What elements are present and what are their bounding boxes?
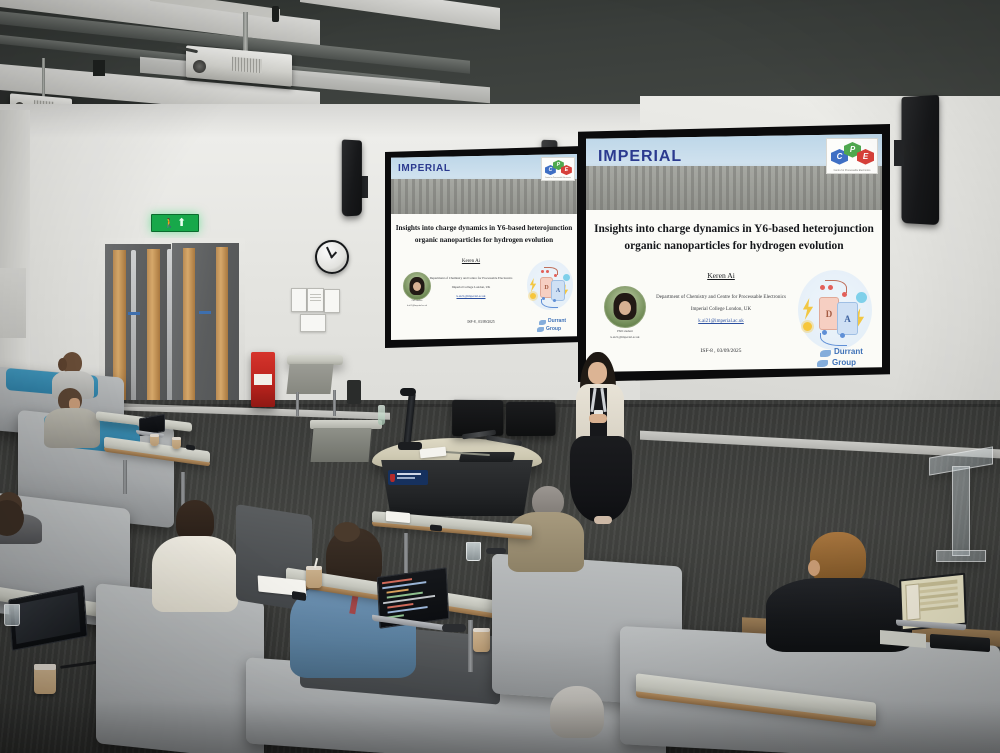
hex-e: E [857, 149, 874, 165]
attendee-bun [334, 522, 360, 542]
headshot-face [413, 282, 421, 291]
wall-notice-2 [307, 288, 324, 312]
cup-lid [34, 664, 56, 670]
wall-notice-3 [324, 289, 340, 313]
durrant-logo-mark [820, 350, 831, 357]
centre-logo: C P E Centre for Processable Electronics [826, 138, 878, 174]
badge-text-line [397, 473, 421, 475]
attendee-torso [44, 408, 100, 448]
centre-logo: C P E Centre for Processable Electronics [541, 157, 575, 181]
door-sticker-left [128, 312, 140, 315]
water-bottle [378, 405, 385, 425]
slide-title-line2: organic nanoparticles for hydrogen evolu… [395, 236, 573, 245]
cup-lid [473, 628, 490, 632]
ceiling-vent [93, 60, 105, 76]
headshot-caption-2: k.ai21@imperial.ac.uk [586, 335, 664, 339]
wall-left-return [0, 110, 30, 410]
desk-leg [123, 460, 127, 494]
clock-hand-minute [325, 247, 331, 259]
arrow-up-icon: ⬆ [177, 218, 186, 229]
microphone-base [398, 442, 422, 450]
emergency-exit-sign: 🚶 ⬆ [151, 214, 199, 232]
slide-right: IMPERIAL C P E Centre for Processable El… [586, 134, 882, 372]
hex-e-label: E [857, 149, 874, 165]
transfer-arrow [825, 280, 847, 293]
slide-author: Keren Ai [421, 259, 521, 264]
durrant-logo-line2: Group [546, 327, 561, 332]
podium-side-shelf-apron [311, 428, 372, 462]
badge-text-line [397, 477, 415, 479]
door-handle-right[interactable] [167, 249, 172, 407]
hex-e: E [561, 165, 572, 175]
skyline-photo [391, 179, 577, 214]
acceptor-block: A [837, 302, 858, 335]
sun-icon [803, 322, 812, 331]
projector-pole-centre [243, 12, 248, 54]
headshot-caption-2: k.ai21@imperial.ac.uk [391, 305, 443, 307]
podium-crest-badge [388, 470, 428, 485]
headshot-caption-1: PhD student [393, 300, 441, 302]
wall-clock [315, 240, 349, 274]
door-panel-wood-3 [183, 248, 195, 408]
slide-title-line1: Insights into charge dynamics in Y6-base… [592, 222, 876, 236]
door-panel-wood-4 [216, 247, 228, 407]
coffee-cup [34, 664, 56, 694]
headshot-caption-1: PhD student [590, 329, 660, 333]
slide-affiliation-2: Imperial College London, UK [626, 306, 816, 313]
coffee-cup [306, 566, 322, 588]
wall-speaker-right [902, 95, 940, 225]
attendee-torso [152, 536, 238, 612]
durrant-logo-line2: Group [832, 359, 856, 367]
cup-lid [172, 437, 181, 440]
spreadsheet-sidebar [905, 583, 920, 620]
attendee-hair [810, 532, 866, 584]
lecture-theatre-photo: 🚶 ⬆ IMPERIAL C P [0, 0, 1000, 753]
presenter-hands [589, 414, 607, 423]
notice-text-line [310, 297, 321, 298]
door-panel-wood-2 [147, 249, 160, 409]
crest-shield-icon [390, 474, 395, 482]
hex-e-label: E [561, 165, 572, 175]
lightning-bolt-icon-left [528, 278, 538, 292]
podium-monitor-right[interactable] [506, 402, 556, 436]
wall-notice-4 [300, 314, 326, 332]
proton-dot [563, 274, 570, 281]
lightning-bolt-icon-left [800, 298, 816, 320]
sun-icon [530, 293, 536, 299]
papers-on-desk [386, 511, 410, 523]
display-left: IMPERIAL C P E Centre for Processable El… [385, 146, 583, 348]
side-table-leg [296, 392, 299, 416]
headshot-face [619, 301, 631, 315]
attendee-mid-left [146, 500, 242, 612]
attendee-ponytail [58, 358, 67, 371]
door-sticker-right [199, 311, 211, 314]
laptop-screen-glow [14, 592, 81, 644]
acceptor-block: A [551, 280, 565, 301]
water-glass [466, 542, 481, 561]
presenter-face [588, 362, 607, 384]
author-headshot [403, 272, 431, 300]
fire-cabinet-label [254, 374, 272, 385]
slide-title-line1: Insights into charge dynamics in Y6-base… [395, 224, 573, 233]
presenter-shoe [594, 516, 612, 524]
slide-left: IMPERIAL C P E Centre for Processable El… [391, 154, 577, 340]
slide-title-line2: organic nanoparticles for hydrogen evolu… [592, 239, 876, 253]
glasses-on-desk [486, 548, 506, 554]
projector-centre-vent [232, 57, 262, 74]
desk-leg [404, 533, 408, 573]
phone-on-desk [186, 444, 195, 450]
donor-block: D [819, 297, 839, 330]
author-headshot [604, 286, 646, 328]
centre-logo-caption: Centre for Processable Electronics [827, 169, 877, 172]
slide-diagram: D A [798, 270, 872, 350]
attendee-back-left-2 [44, 388, 104, 448]
transfer-arrow [544, 267, 558, 275]
durrant-logo-mark-2 [537, 327, 544, 332]
door-handle-left[interactable] [131, 250, 136, 408]
notice-text-line [310, 300, 321, 301]
running-man-icon: 🚶 [164, 219, 175, 228]
acrylic-lectern-stem [952, 466, 970, 556]
cycle-arrow [541, 299, 558, 308]
centre-logo-caption: Centre for Processable Electronics [542, 177, 574, 179]
cycle-arrow [820, 333, 847, 346]
attendee-head [0, 500, 24, 536]
durrant-logo-line1: Durrant [834, 348, 863, 356]
coffee-cup [150, 434, 159, 446]
slide-diagram: D A [527, 260, 573, 310]
slide-date: ISF-8 , 03/09/2025 [431, 320, 531, 324]
wall-notice-1 [291, 288, 307, 312]
acrylic-lectern-base [936, 550, 986, 562]
slide-author: Keren Ai [646, 271, 796, 280]
attendee-torso [508, 512, 584, 572]
fire-extinguisher-cabinet [251, 352, 275, 407]
microphone-head-icon [400, 388, 416, 396]
projector-centre-lens-icon [193, 60, 206, 73]
wall-speaker-left [342, 139, 362, 216]
proton-dot [856, 292, 867, 303]
floor-shadow-foreground [0, 700, 1000, 753]
cup-lid [150, 434, 159, 437]
glasses-on-desk [442, 624, 466, 632]
durrant-logo-mark [539, 320, 546, 325]
attendee-ear [808, 560, 820, 576]
coffee-cup [473, 628, 490, 652]
wall-left-panel [0, 268, 26, 338]
slide-email[interactable]: k.ai21@imperial.ac.uk [411, 294, 531, 299]
slide-date: ISF-8 , 03/09/2025 [656, 348, 786, 354]
imperial-wordmark: IMPERIAL [398, 163, 451, 174]
speaker-bracket-right [894, 140, 904, 166]
imperial-wordmark: IMPERIAL [598, 148, 682, 166]
notice-text-line [310, 294, 321, 295]
display-right: IMPERIAL C P E Centre for Processable El… [578, 124, 890, 382]
slide-affiliation-1: Department of Chemistry and Centre for P… [626, 294, 816, 301]
code-line [387, 589, 409, 594]
side-table-apron [286, 364, 333, 394]
attendee-edge-left [0, 500, 36, 556]
phone-on-desk [430, 524, 442, 531]
durrant-logo-line1: Durrant [548, 319, 566, 324]
ceiling-hook [272, 6, 279, 22]
side-table-leg [333, 390, 336, 416]
durrant-logo-mark-2 [817, 360, 828, 367]
coffee-cup [172, 437, 181, 449]
slide-email[interactable]: k.ai21@imperial.ac.uk [626, 318, 816, 325]
bin [347, 380, 361, 404]
water-glass [4, 604, 20, 626]
